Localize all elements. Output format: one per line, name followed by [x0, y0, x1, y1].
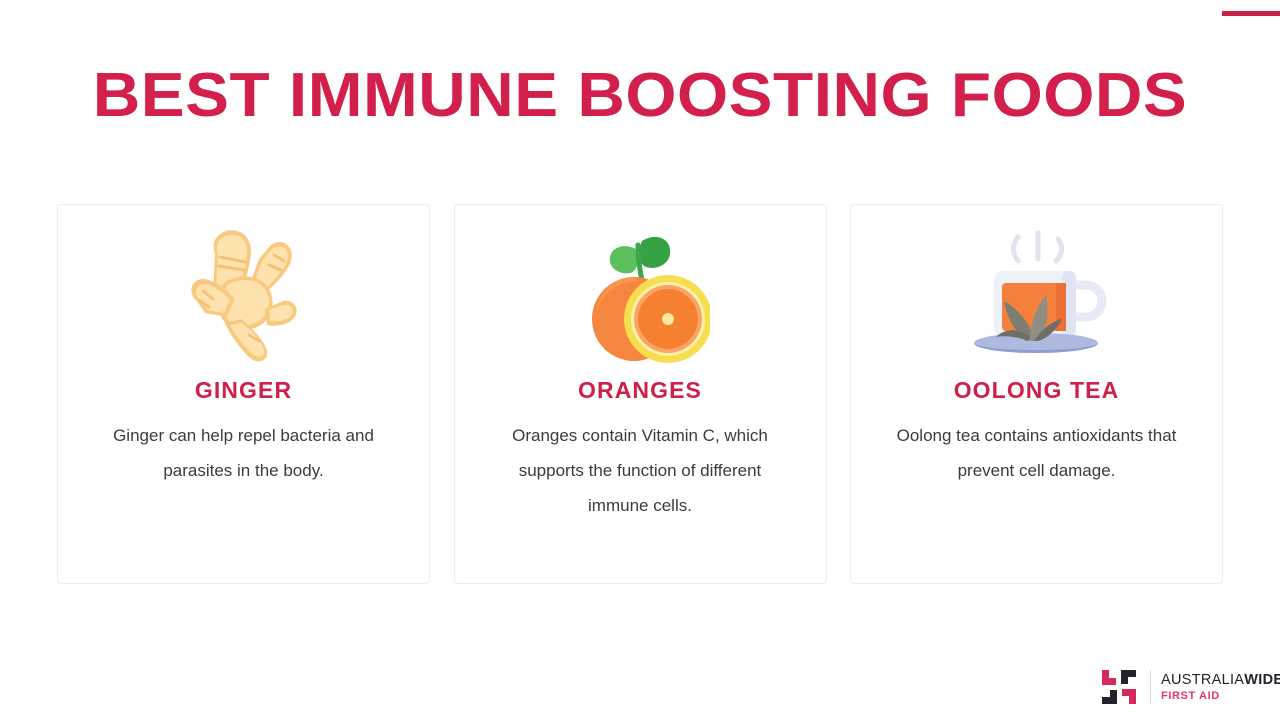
card-heading-ginger: GINGER — [195, 377, 292, 404]
logo-tagline: FIRST AID — [1161, 689, 1280, 703]
food-card-oranges: ORANGES Oranges contain Vitamin C, which… — [454, 204, 827, 584]
page-title: BEST IMMUNE BOOSTING FOODS — [0, 58, 1280, 134]
australia-wide-cross-mark-icon — [1100, 668, 1138, 706]
orange-fruit-icon — [570, 223, 710, 363]
logo-brand-name-regular: AUSTRALIA — [1161, 672, 1244, 688]
brand-logo: AUSTRALIAWIDE FIRST AID — [1100, 666, 1280, 708]
logo-text: AUSTRALIAWIDE FIRST AID — [1161, 672, 1280, 703]
food-card-ginger: GINGER Ginger can help repel bacteria an… — [57, 204, 430, 584]
logo-brand-name: AUSTRALIAWIDE — [1161, 672, 1280, 689]
food-cards-row: GINGER Ginger can help repel bacteria an… — [57, 204, 1223, 584]
tea-cup-icon — [964, 223, 1109, 363]
ginger-root-icon — [179, 223, 309, 363]
card-heading-oolong-tea: OOLONG TEA — [954, 377, 1120, 404]
logo-brand-name-bold: WIDE — [1244, 672, 1280, 688]
card-body-oranges: Oranges contain Vitamin C, which support… — [490, 418, 790, 523]
food-card-oolong-tea: OOLONG TEA Oolong tea contains antioxida… — [850, 204, 1223, 584]
logo-divider — [1150, 670, 1151, 704]
card-body-oolong-tea: Oolong tea contains antioxidants that pr… — [887, 418, 1187, 488]
top-accent-bar — [1222, 11, 1280, 16]
card-body-ginger: Ginger can help repel bacteria and paras… — [94, 418, 394, 488]
card-heading-oranges: ORANGES — [578, 377, 702, 404]
